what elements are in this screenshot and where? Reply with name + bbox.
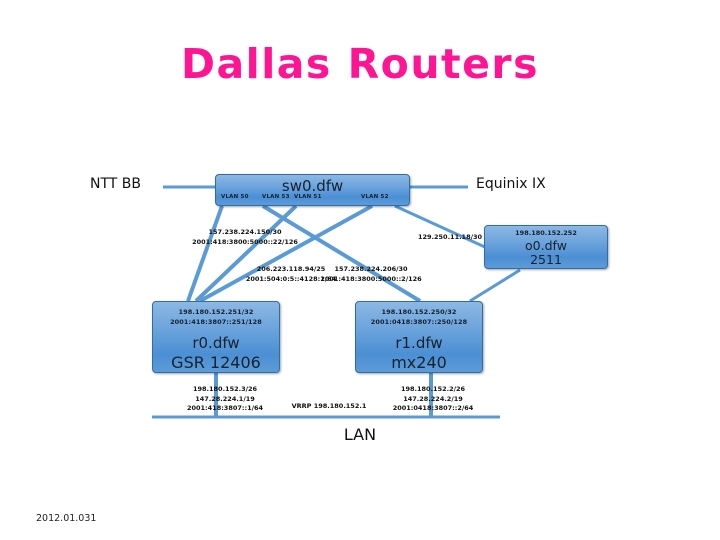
vlan-label-52: VLAN 52 (361, 194, 389, 200)
oob-name: o0.dfw (485, 239, 607, 253)
r0-lan-v4-1: 198.180.152.3/26 (160, 385, 290, 395)
label-equinix-ix: Equinix IX (476, 176, 546, 192)
vlan-label-50: VLAN 50 (221, 194, 249, 200)
r1-lan-v4-1: 198.180.152.2/26 (367, 385, 499, 395)
node-router-r0-dfw[interactable]: 198.180.152.251/32 2001:418:3807::251/12… (152, 301, 280, 373)
switch-name: sw0.dfw (216, 175, 409, 196)
vrrp-address: VRRP 198.180.152.1 (276, 402, 382, 412)
oob-address: 198.180.152.252 (485, 229, 607, 238)
node-switch-sw0-dfw[interactable]: sw0.dfw VLAN 50 VLAN 53 VLAN 51 VLAN 52 (215, 174, 410, 206)
slide-canvas: Dallas Routers NTT (0, 0, 720, 540)
r1-lan-v4-2: 147.28.224.2/19 (367, 395, 499, 405)
link-vlan51-to-r0 (196, 206, 296, 301)
node-oob-o0-dfw[interactable]: 198.180.152.252 o0.dfw 2511 (484, 225, 608, 269)
ntt-r0-v6: 2001:418:3800:5000::22/126 (172, 238, 318, 248)
ntt-r0-v4: 157.238.224.150/30 (172, 228, 318, 238)
r1-name: r1.dfw (356, 334, 482, 353)
ntt-r1-v6: 2001:418:3800:5000::2/126 (315, 275, 427, 285)
vlan-label-51: VLAN 51 (294, 194, 322, 200)
r0-lan-v6: 2001:418:3807::1/64 (160, 404, 290, 414)
r0-loopback-v4: 198.180.152.251/32 (153, 308, 279, 318)
r0-model: GSR 12406 (153, 353, 279, 373)
r1-lan-v6: 2001:0418:3807::2/64 (367, 404, 499, 414)
label-lan: LAN (0, 425, 720, 444)
r1-loopback-v4: 198.180.152.250/32 (356, 308, 482, 318)
label-ntt-backbone: NTT BB (90, 176, 141, 192)
oob-link-v4: 129.250.11.18/30 (404, 233, 496, 243)
node-router-r1-dfw[interactable]: 198.180.152.250/32 2001:0418:3807::250/1… (355, 301, 483, 373)
annotation-r1-lan-addresses: 198.180.152.2/26 147.28.224.2/19 2001:04… (367, 385, 499, 414)
vlan-label-53: VLAN 53 (262, 194, 290, 200)
annotation-oob-link: 129.250.11.18/30 (404, 233, 496, 243)
annotation-ntt-r0-link: 157.238.224.150/30 2001:418:3800:5000::2… (172, 228, 318, 247)
annotation-ntt-r1-link: 157.238.224.206/30 2001:418:3800:5000::2… (315, 265, 427, 284)
ntt-r1-v4: 157.238.224.206/30 (315, 265, 427, 275)
annotation-r0-lan-addresses: 198.180.152.3/26 147.28.224.1/19 2001:41… (160, 385, 290, 414)
link-r1-to-oob (470, 270, 520, 301)
vlan-port-labels: VLAN 50 VLAN 53 VLAN 51 VLAN 52 (216, 194, 411, 206)
r0-lan-v4-2: 147.28.224.1/19 (160, 395, 290, 405)
slide-footer: 2012.01.031 (36, 513, 96, 524)
r0-name: r0.dfw (153, 334, 279, 353)
annotation-vrrp-address: VRRP 198.180.152.1 (276, 402, 382, 412)
link-vlan50-to-r0 (188, 206, 222, 301)
r1-model: mx240 (356, 353, 482, 373)
oob-model: 2511 (485, 253, 607, 267)
r1-loopback-v6: 2001:0418:3807::250/128 (356, 318, 482, 328)
r0-loopback-v6: 2001:418:3807::251/128 (153, 318, 279, 328)
